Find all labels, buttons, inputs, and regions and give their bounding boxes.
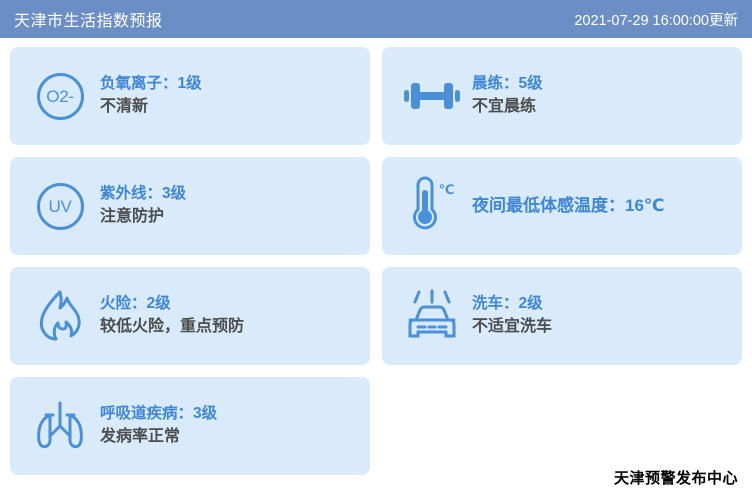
index-card-title: 火险：2级 (100, 292, 244, 315)
lungs-icon (28, 394, 92, 458)
update-timestamp: 2021-07-29 16:00:00更新 (574, 9, 738, 30)
uv-icon-label: UV (48, 198, 71, 215)
index-card-title: 夜间最低体感温度：16℃ (472, 193, 665, 219)
index-card-negative-oxygen-ions[interactable]: O2- 负氧离子：1级 不清新 (10, 47, 370, 145)
car-wash-icon (400, 284, 464, 348)
page-header: 天津市生活指数预报 2021-07-29 16:00:00更新 (0, 0, 752, 38)
index-card-value: 发病率正常 (100, 425, 217, 450)
index-card-value: 不宜晨练 (472, 95, 543, 120)
index-card-respiratory-illness[interactable]: 呼吸道疾病：3级 发病率正常 (10, 377, 370, 475)
index-card-uv[interactable]: UV 紫外线：3级 注意防护 (10, 157, 370, 255)
dumbbell-icon (400, 64, 464, 128)
index-card-title: 呼吸道疾病：3级 (100, 402, 217, 425)
index-card-value: 较低火险，重点预防 (100, 315, 244, 340)
index-card-title: 晨练：5级 (472, 72, 543, 95)
index-card-grid: O2- 负氧离子：1级 不清新 晨练：5级 不宜晨练 UV (0, 38, 752, 475)
index-card-fire-risk[interactable]: 火险：2级 较低火险，重点预防 (10, 267, 370, 365)
index-card-title: 紫外线：3级 (100, 182, 186, 205)
source-attribution: 天津预警发布中心 (614, 467, 738, 488)
index-card-text: 负氧离子：1级 不清新 (100, 72, 202, 120)
index-card-text: 洗车：2级 不适宜洗车 (472, 292, 552, 340)
index-card-morning-exercise[interactable]: 晨练：5级 不宜晨练 (382, 47, 742, 145)
index-card-night-apparent-temperature[interactable]: ℃ 夜间最低体感温度：16℃ (382, 157, 742, 255)
uv-icon: UV (28, 174, 92, 238)
index-card-value: 不适宜洗车 (472, 315, 552, 340)
o2-minus-icon-label: O2- (46, 88, 73, 105)
index-card-title: 负氧离子：1级 (100, 72, 202, 95)
page-title: 天津市生活指数预报 (14, 7, 163, 31)
index-card-text: 晨练：5级 不宜晨练 (472, 72, 543, 120)
index-card-text: 呼吸道疾病：3级 发病率正常 (100, 402, 217, 450)
o2-minus-icon: O2- (28, 64, 92, 128)
index-card-text: 夜间最低体感温度：16℃ (472, 193, 665, 219)
index-card-value: 注意防护 (100, 205, 186, 230)
thermometer-icon: ℃ (400, 174, 464, 238)
index-card-value: 不清新 (100, 95, 202, 120)
thermometer-unit-label: ℃ (439, 182, 455, 198)
flame-icon (28, 284, 92, 348)
index-card-text: 火险：2级 较低火险，重点预防 (100, 292, 244, 340)
index-card-text: 紫外线：3级 注意防护 (100, 182, 186, 230)
index-card-title: 洗车：2级 (472, 292, 552, 315)
index-card-car-wash[interactable]: 洗车：2级 不适宜洗车 (382, 267, 742, 365)
